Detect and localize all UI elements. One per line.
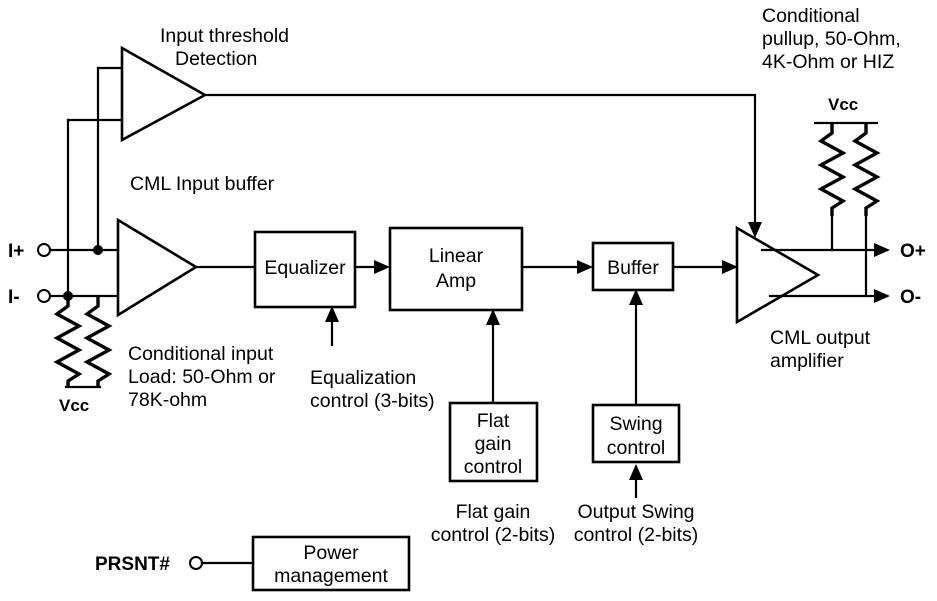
equalization-control-line: Equalization control (3-bits) <box>310 306 435 412</box>
arrowhead-output-negative <box>874 289 890 303</box>
equalization-control-label-line1: Equalization <box>310 367 416 389</box>
equalizer-label: Equalizer <box>264 257 346 279</box>
swing-control-label-line2: control <box>607 437 666 459</box>
input-positive-label: I+ <box>8 241 24 262</box>
conditional-input-label-line1: Conditional input <box>128 343 274 365</box>
threshold-detector-output-route <box>205 95 762 238</box>
swing-control-block: Swing control Output Swing control (2-bi… <box>574 289 699 546</box>
wire-linear-amp-to-buffer-group <box>522 260 593 274</box>
arrowhead-equalizer-to-linear-amp <box>374 260 390 274</box>
arrowhead-equalization-control <box>325 306 339 322</box>
prsnt-label: PRSNT# <box>95 554 170 575</box>
arrowhead-output-swing-control <box>629 464 643 480</box>
input-load-resistor-positive <box>87 296 109 387</box>
power-management-label-line2: management <box>274 565 388 587</box>
power-management-label-line1: Power <box>303 542 359 564</box>
input-positive-pin <box>38 244 50 256</box>
swing-control-label-line1: Swing <box>609 413 662 435</box>
output-negative-label: O- <box>900 287 921 308</box>
conditional-pullup-label-line2: pullup, 50-Ohm, <box>762 28 901 50</box>
input-negative-label: I- <box>8 287 20 308</box>
input-threshold-detector: Input threshold Detection <box>122 25 289 140</box>
cml-output-amp-label-line1: CML output <box>770 327 871 349</box>
cml-output-amplifier-symbol <box>737 228 818 322</box>
vcc-output-label: Vcc <box>828 95 858 114</box>
power-management-block: PRSNT# Power management <box>95 537 409 590</box>
buffer-block: Buffer <box>593 243 673 290</box>
wire-buffer-to-output-amp-group <box>673 260 738 274</box>
output-swing-control-caption-line2: control (2-bits) <box>574 524 699 546</box>
cml-input-buffer-label: CML Input buffer <box>130 173 275 195</box>
arrowhead-linear-amp-to-buffer <box>577 260 593 274</box>
cml-buffer-diagram: I+ I- Input threshold Detection <box>0 0 937 601</box>
block-diagram-canvas: I+ I- Input threshold Detection <box>0 0 937 601</box>
arrowhead-swing-control-to-buffer <box>629 289 643 305</box>
flat-gain-control-label-line3: control <box>464 456 523 478</box>
input-threshold-label-line2: Detection <box>175 48 257 70</box>
input-negative-pin <box>38 290 50 302</box>
equalization-control-label-line2: control (3-bits) <box>310 390 435 412</box>
flat-gain-control-label-line1: Flat <box>477 410 510 432</box>
input-terminal-negative: I- <box>8 287 118 308</box>
flat-gain-control-label-line2: gain <box>475 433 512 455</box>
cml-output-amp-label-line2: amplifier <box>770 350 844 372</box>
wire-equalizer-to-linear-amp-group <box>355 260 390 274</box>
junction-dot-input-positive <box>93 245 103 255</box>
equalizer-block: Equalizer <box>255 232 355 307</box>
linear-amp-box <box>390 228 522 310</box>
output-swing-control-caption-line1: Output Swing <box>577 501 694 523</box>
arrowhead-buffer-to-output-amp <box>722 260 738 274</box>
arrowhead-output-positive <box>874 243 890 257</box>
arrowhead-flat-gain-control <box>486 309 500 325</box>
vcc-input-label: Vcc <box>59 396 89 415</box>
threshold-detector-input-taps <box>63 68 122 301</box>
cml-input-buffer-symbol <box>118 220 196 315</box>
conditional-pullup-label-line1: Conditional <box>762 5 860 27</box>
output-pullup-resistor-negative <box>855 123 877 216</box>
output-pullup-resistor-positive <box>821 123 843 216</box>
linear-amp-block: Linear Amp <box>390 228 522 310</box>
input-threshold-label-line1: Input threshold <box>160 25 289 47</box>
linear-amp-label-line1: Linear <box>429 245 484 267</box>
conditional-input-label-line2: Load: 50-Ohm or <box>128 366 276 388</box>
cml-input-buffer <box>118 220 255 315</box>
prsnt-pin <box>190 557 202 569</box>
conditional-pullup-label-line3: 4K-Ohm or HIZ <box>762 51 894 73</box>
conditional-input-label-line3: 78K-ohm <box>128 389 207 411</box>
input-load-resistor-negative <box>57 296 79 387</box>
input-load-resistors: Vcc <box>57 296 109 415</box>
wire-threshold-to-output-amp <box>205 95 755 226</box>
output-pullup-resistors: Vcc <box>815 95 877 296</box>
linear-amp-label-line2: Amp <box>436 270 476 292</box>
output-positive-label: O+ <box>900 241 926 262</box>
flat-gain-control-block: Flat gain control Flat gain control (2-b… <box>431 309 556 546</box>
buffer-label: Buffer <box>607 257 659 279</box>
flat-gain-control-caption-line1: Flat gain <box>456 501 531 523</box>
flat-gain-control-caption-line2: control (2-bits) <box>431 524 556 546</box>
